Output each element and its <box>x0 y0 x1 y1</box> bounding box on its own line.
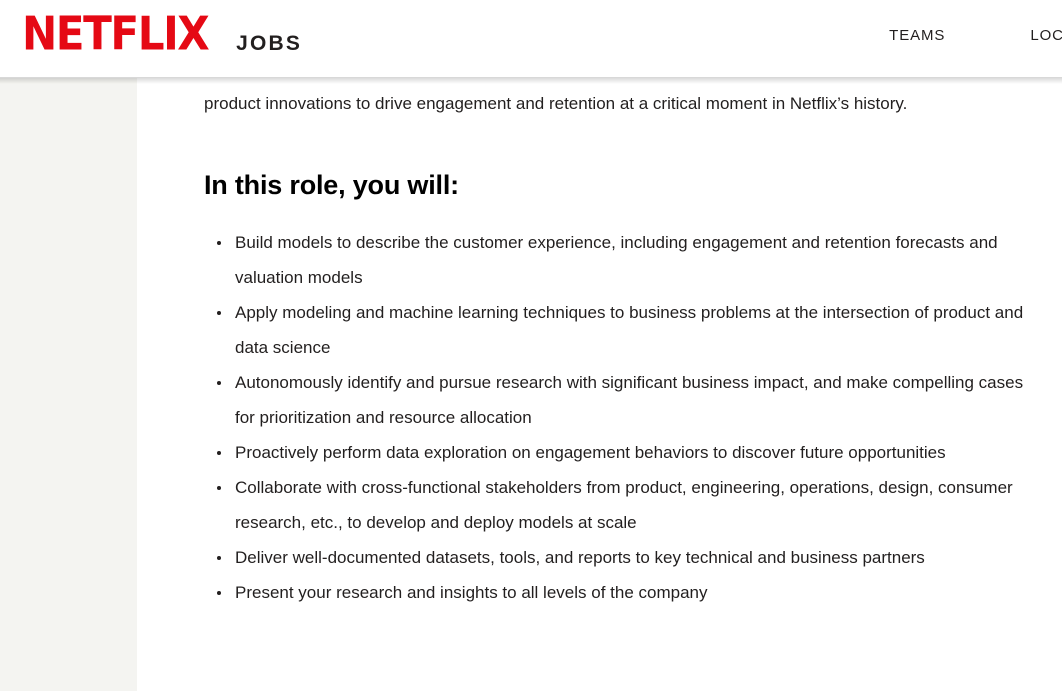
page-title: In this role, you will: <box>204 169 1046 201</box>
list-item: Collaborate with cross-functional stakeh… <box>204 470 1029 540</box>
left-sidebar-rail <box>0 78 137 691</box>
list-item: Proactively perform data exploration on … <box>204 435 1029 470</box>
jobs-wordmark[interactable]: JOBS <box>236 33 302 54</box>
list-item: Apply modeling and machine learning tech… <box>204 295 1029 365</box>
nav-item-locations[interactable]: LOCATIONS <box>1030 27 1062 44</box>
job-description-content: product innovations to drive engagement … <box>137 78 1062 691</box>
list-item: Autonomously identify and pursue researc… <box>204 365 1029 435</box>
nav-item-teams[interactable]: TEAMS <box>889 27 945 44</box>
list-item: Deliver well-documented datasets, tools,… <box>204 540 1029 575</box>
list-item: Present your research and insights to al… <box>204 575 1029 610</box>
brand-lockup[interactable]: NETFLIX JOBS <box>22 15 302 58</box>
list-item: Build models to describe the customer ex… <box>204 225 1029 295</box>
intro-paragraph: product innovations to drive engagement … <box>204 86 1046 121</box>
netflix-logo[interactable]: NETFLIX <box>22 12 208 58</box>
primary-navigation: TEAMS LOCATIONS <box>804 27 1062 44</box>
responsibilities-list: Build models to describe the customer ex… <box>204 225 1046 610</box>
site-header: NETFLIX JOBS TEAMS LOCATIONS <box>0 0 1062 77</box>
